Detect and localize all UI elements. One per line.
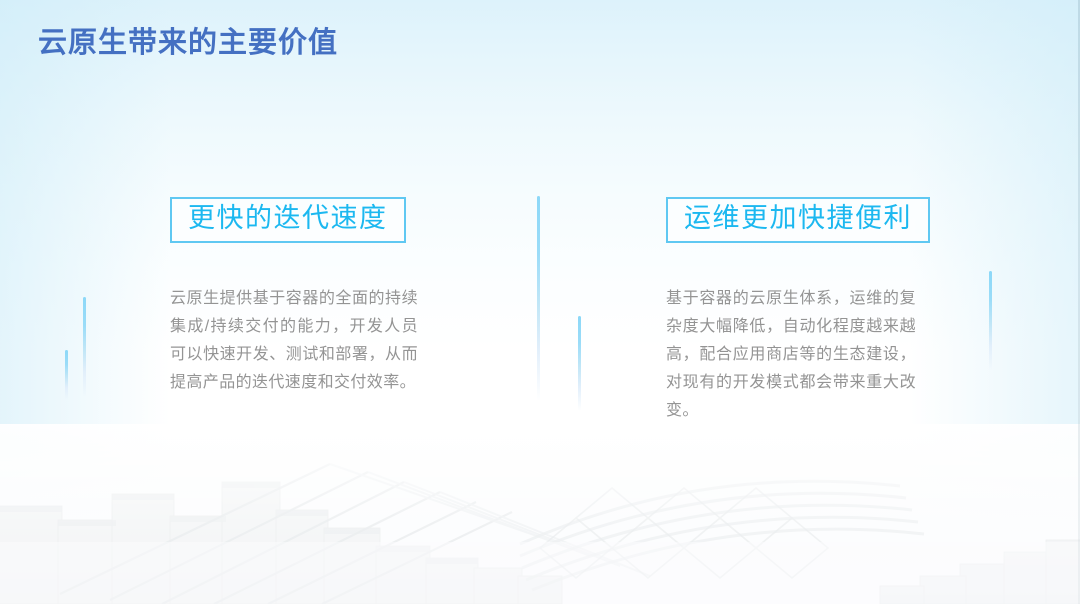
decor-line-4 — [578, 316, 581, 411]
decor-line-5 — [989, 271, 992, 371]
decor-line-1 — [83, 297, 86, 397]
column-left-heading-box: 更快的迭代速度 — [170, 197, 406, 243]
column-right-heading-box: 运维更加快捷便利 — [666, 197, 930, 243]
decor-line-3 — [537, 196, 540, 401]
column-right-body-text: 基于容器的云原生体系，运维的复杂度大幅降低，自动化程度越来越高，配合应用商店等的… — [666, 285, 916, 425]
slide-canvas: 云原生带来的主要价值 更快的迭代速度 云原生提供基于容器的全面的持续集成/持续交… — [0, 0, 1080, 604]
decor-line-2 — [65, 350, 68, 400]
column-left-heading-text: 更快的迭代速度 — [188, 203, 388, 234]
value-column-left: 更快的迭代速度 云原生提供基于容器的全面的持续集成/持续交付的能力，开发人员可以… — [170, 197, 420, 397]
voxel-terrain-landscape — [0, 424, 1080, 604]
page-title: 云原生带来的主要价值 — [38, 19, 338, 61]
terrain-svg — [0, 424, 1080, 604]
terrain-haze — [0, 424, 1080, 604]
value-column-right: 运维更加快捷便利 基于容器的云原生体系，运维的复杂度大幅降低，自动化程度越来越高… — [666, 197, 916, 425]
column-left-body-text: 云原生提供基于容器的全面的持续集成/持续交付的能力，开发人员可以快速开发、测试和… — [170, 285, 418, 397]
right-edge-tint — [910, 0, 1080, 604]
column-right-heading-text: 运维更加快捷便利 — [684, 203, 912, 234]
